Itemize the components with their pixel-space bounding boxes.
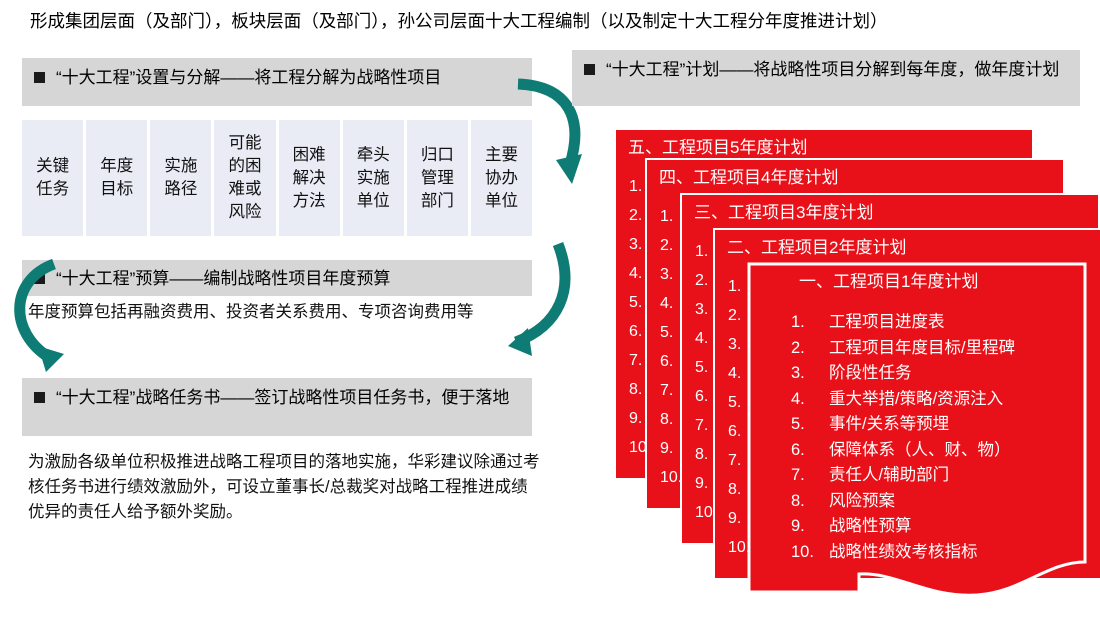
year-plan-card-4-numbers: 1.2.3.4.5.6.7.8.9.10. — [660, 202, 682, 492]
year-plan-card-4-title: 四、工程项目4年度计划 — [659, 167, 838, 189]
list-item-label: 重大举措/策略/资源注入 — [829, 387, 1100, 413]
list-item: 10.战略性绩效考核指标 — [791, 540, 1100, 566]
year-plan-card-2-title: 二、工程项目2年度计划 — [727, 237, 906, 259]
table-cell: 困难解决方法 — [279, 120, 340, 236]
list-number: 2. — [660, 231, 682, 260]
taskbook-body-text: 为激励各级单位积极推进战略工程项目的落地实施，华彩建议除通过考核任务书进行绩效激… — [28, 450, 540, 525]
budget-body-text: 年度预算包括再融资费用、投资者关系费用、专项咨询费用等 — [28, 300, 533, 325]
list-item-number: 9. — [791, 514, 829, 540]
list-item: 3.阶段性任务 — [791, 361, 1100, 387]
list-item-label: 保障体系（人、财、物） — [829, 438, 1100, 464]
table-cell: 归口管理部门 — [407, 120, 468, 236]
list-item: 5.事件/关系等预埋 — [791, 412, 1100, 438]
table-cell: 实施路径 — [150, 120, 211, 236]
slide-canvas: 形成集团层面（及部门），板块层面（及部门），孙公司层面十大工程编制（以及制定十大… — [0, 0, 1100, 632]
task-attribute-table: 关键任务 年度目标 实施路径 可能的困难或风险 困难解决方法 牵头实施单位 归口… — [22, 120, 532, 236]
list-item-label: 责任人/辅助部门 — [829, 463, 1100, 489]
page-title: 形成集团层面（及部门），板块层面（及部门），孙公司层面十大工程编制（以及制定十大… — [30, 8, 1080, 34]
list-item: 9.战略性预算 — [791, 514, 1100, 540]
flow-arrow-down-left-icon — [496, 222, 576, 372]
list-number: 8. — [660, 405, 682, 434]
list-item-label: 事件/关系等预埋 — [829, 412, 1100, 438]
list-item-number: 6. — [791, 438, 829, 464]
list-item: 7.责任人/辅助部门 — [791, 463, 1100, 489]
list-item-label: 战略性预算 — [829, 514, 1100, 540]
year-plan-card-3-title: 三、工程项目3年度计划 — [694, 202, 873, 224]
square-bullet-icon — [34, 72, 45, 83]
year-plan-card-5-title: 五、工程项目5年度计划 — [628, 137, 807, 159]
table-cell: 牵头实施单位 — [343, 120, 404, 236]
list-item: 6.保障体系（人、财、物） — [791, 438, 1100, 464]
list-number: 1. — [660, 202, 682, 231]
square-bullet-icon — [584, 64, 595, 75]
section-header-plan-label: “十大工程”计划——将战略性项目分解到每年度，做年度计划 — [606, 57, 1059, 82]
list-item-label: 阶段性任务 — [829, 361, 1100, 387]
list-number: 6. — [660, 347, 682, 376]
list-item-label: 风险预案 — [829, 489, 1100, 515]
section-header-budget: “十大工程”预算——编制战略性项目年度预算 — [22, 260, 532, 296]
list-item-number: 5. — [791, 412, 829, 438]
list-item-number: 3. — [791, 361, 829, 387]
section-header-budget-label: “十大工程”预算——编制战略性项目年度预算 — [56, 266, 390, 291]
table-cell: 关键任务 — [22, 120, 83, 236]
section-header-plan: “十大工程”计划——将战略性项目分解到每年度，做年度计划 — [572, 50, 1080, 106]
list-item: 4.重大举措/策略/资源注入 — [791, 387, 1100, 413]
list-item-number: 1. — [791, 310, 829, 336]
list-number: 9. — [660, 434, 682, 463]
list-item-number: 7. — [791, 463, 829, 489]
list-item: 8.风险预案 — [791, 489, 1100, 515]
section-header-taskbook-label: “十大工程”战略任务书——签订战略性项目任务书，便于落地 — [56, 385, 509, 410]
flow-arrow-down-curve-icon — [2, 248, 82, 398]
section-header-taskbook: “十大工程”战略任务书——签订战略性项目任务书，便于落地 — [22, 378, 532, 436]
stacked-year-plan-cards: 五、工程项目5年度计划 1.2.3.4.5.6.7.8.9.10. 四、工程项目… — [600, 110, 1100, 632]
list-item-number: 4. — [791, 387, 829, 413]
list-number: 3. — [660, 260, 682, 289]
year-plan-card-1-items: 1.工程项目进度表2.工程项目年度目标/里程碑3.阶段性任务4.重大举措/策略/… — [791, 310, 1100, 565]
list-item-label: 工程项目年度目标/里程碑 — [829, 336, 1100, 362]
list-item-number: 2. — [791, 336, 829, 362]
section-header-setup: “十大工程”设置与分解——将工程分解为战略性项目 — [22, 58, 532, 106]
section-header-setup-label: “十大工程”设置与分解——将工程分解为战略性项目 — [56, 65, 441, 90]
year-plan-card-1[interactable]: 一、工程项目1年度计划 1.工程项目进度表2.工程项目年度目标/里程碑3.阶段性… — [747, 262, 1087, 632]
list-item-label: 工程项目进度表 — [829, 310, 1100, 336]
list-number: 7. — [660, 376, 682, 405]
table-cell: 可能的困难或风险 — [214, 120, 275, 236]
list-item: 1.工程项目进度表 — [791, 310, 1100, 336]
table-cell: 年度目标 — [86, 120, 147, 236]
list-item: 2.工程项目年度目标/里程碑 — [791, 336, 1100, 362]
list-item-label: 战略性绩效考核指标 — [829, 540, 1100, 566]
year-plan-card-1-title: 一、工程项目1年度计划 — [799, 271, 978, 293]
list-number: 10. — [660, 463, 682, 492]
list-number: 4. — [660, 289, 682, 318]
list-item-number: 8. — [791, 489, 829, 515]
list-number: 5. — [660, 318, 682, 347]
list-item-number: 10. — [791, 540, 829, 566]
